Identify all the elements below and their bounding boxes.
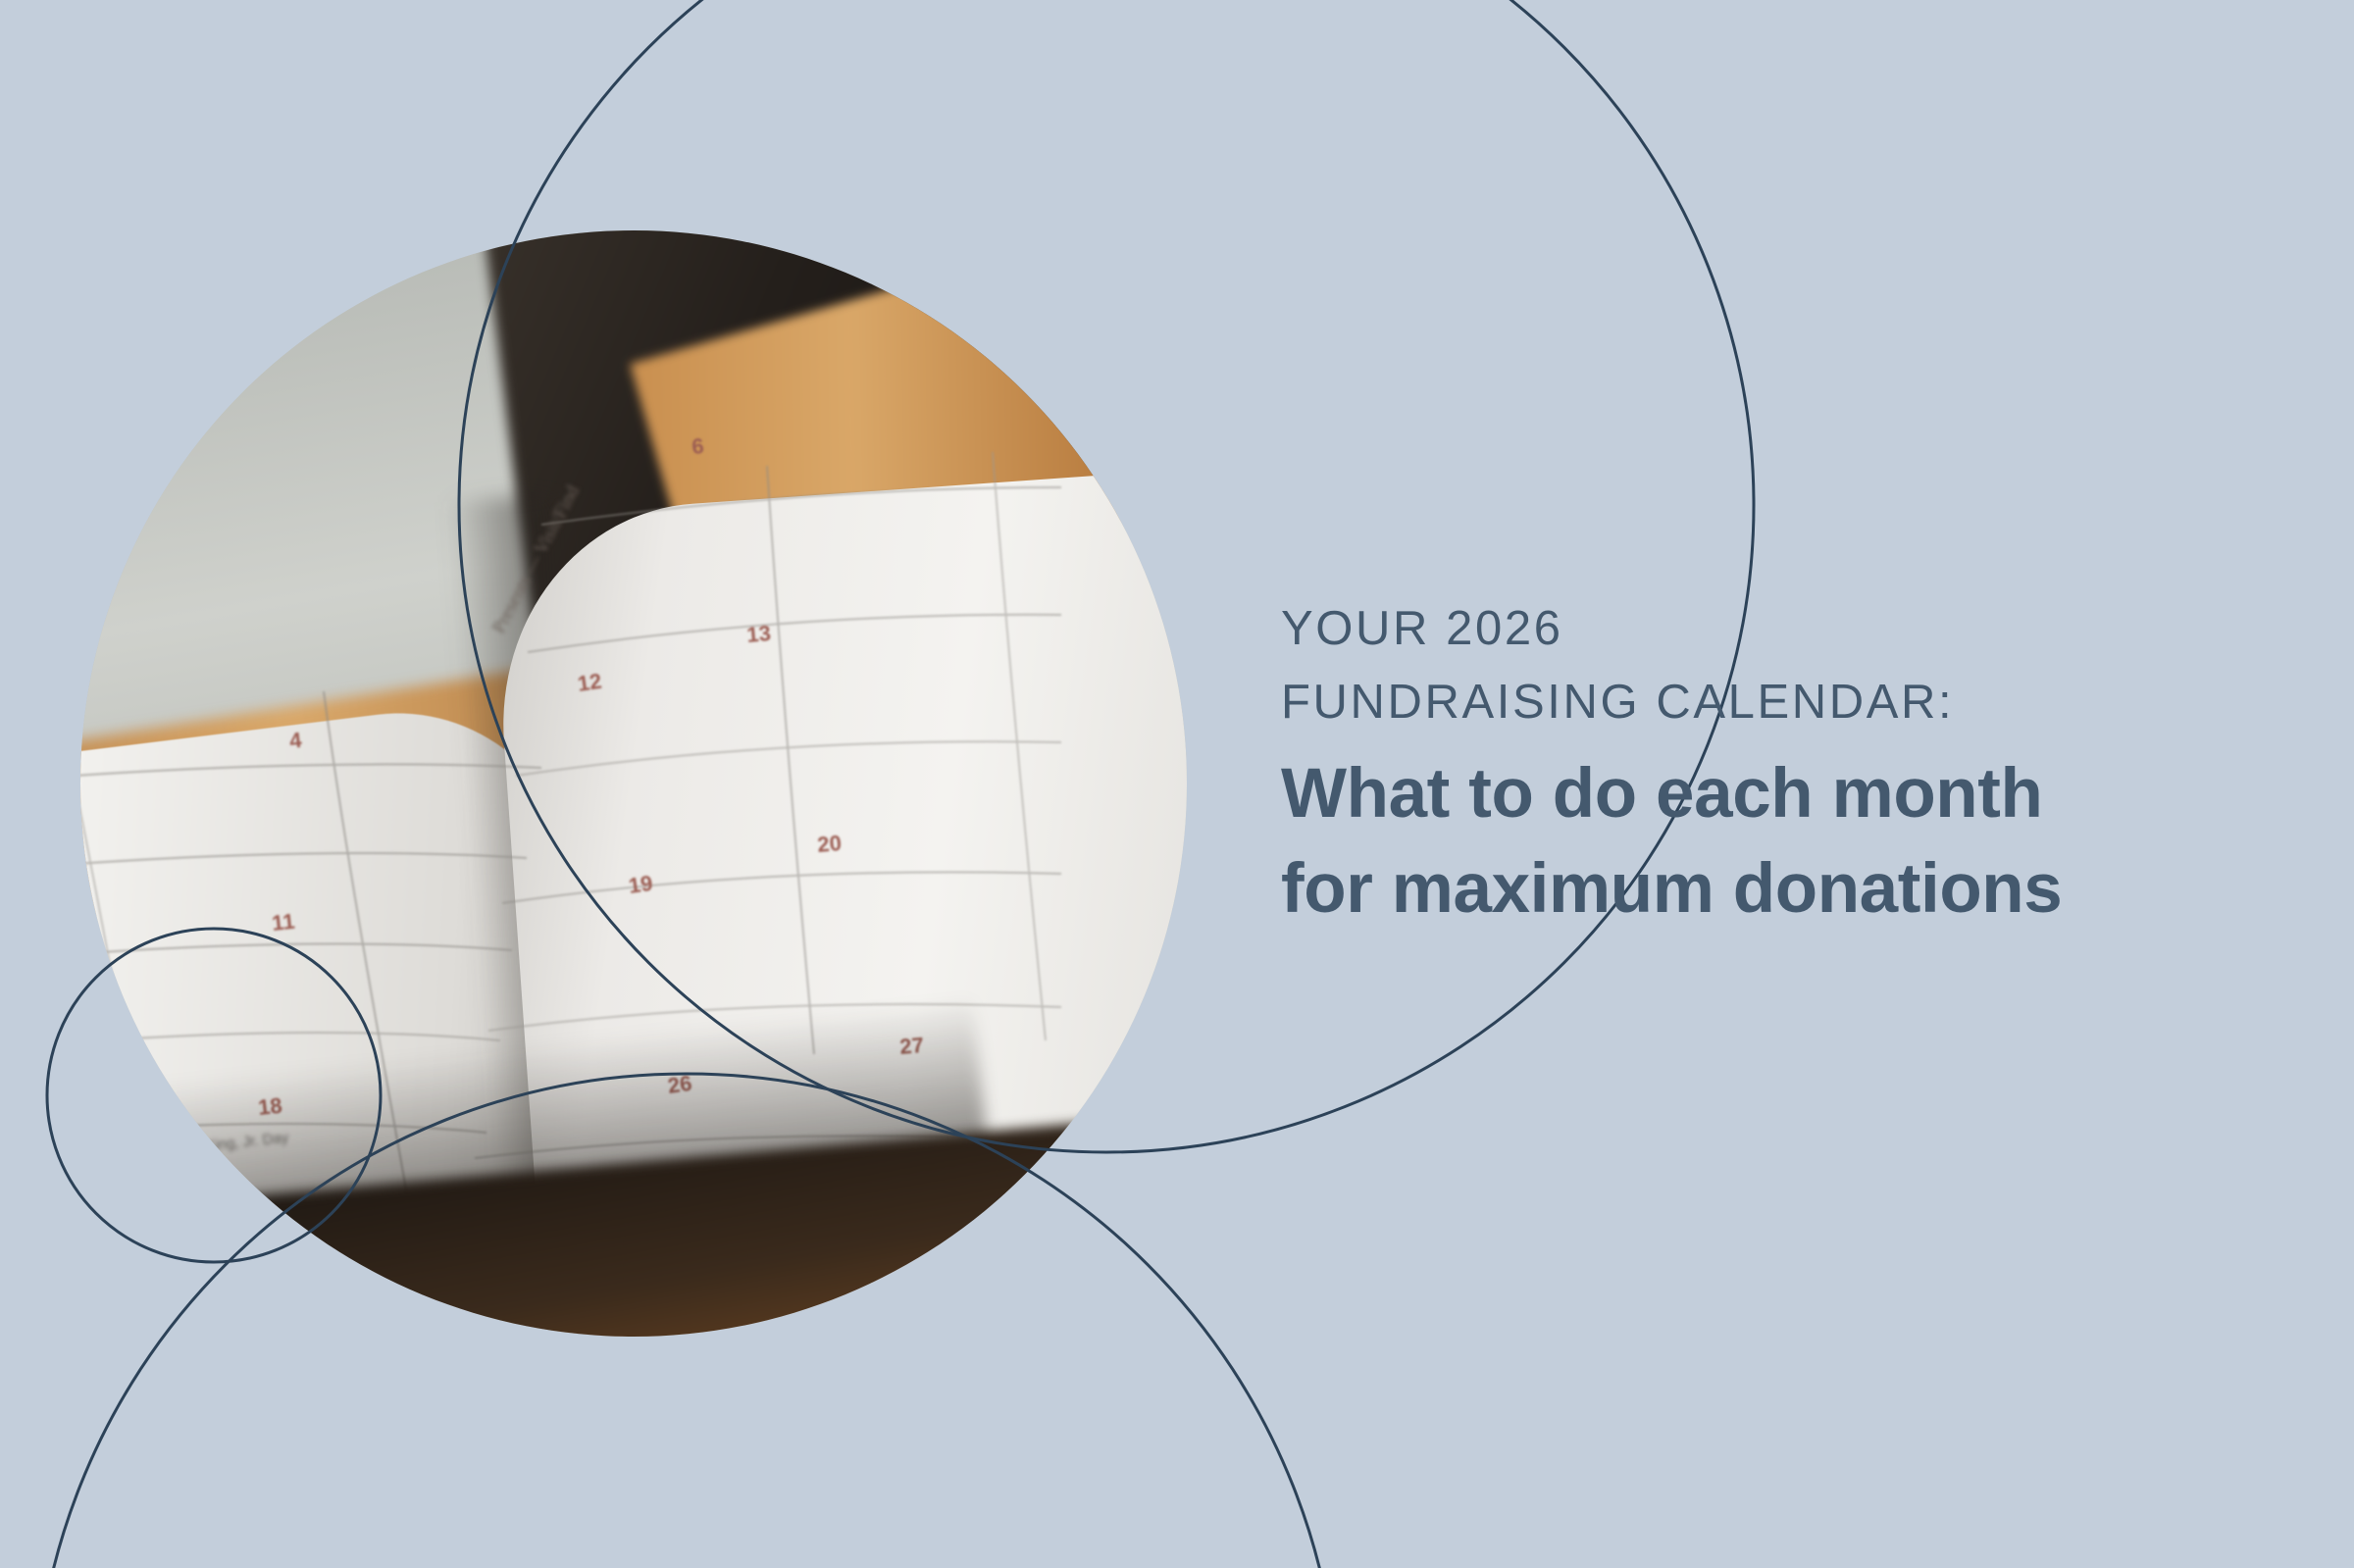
title-text-block: YOUR 2026 FUNDRAISING CALENDAR: What to … [1281, 592, 2321, 930]
headline-line-1: What to do each month [1281, 753, 2321, 835]
calendar-day-number: 13 [745, 621, 772, 647]
eyebrow-line-2: FUNDRAISING CALENDAR: [1281, 666, 2321, 739]
eyebrow-line-1: YOUR 2026 [1281, 592, 2321, 666]
calendar-day-number: 19 [627, 871, 654, 898]
poster-canvas: 4 11 18 25 Martin Luther King, Jr. Day 6… [0, 0, 2354, 1568]
photo-scene: 4 11 18 25 Martin Luther King, Jr. Day 6… [80, 230, 1187, 1337]
calendar-day-number: 6 [691, 433, 704, 459]
calendar-day-number: 12 [576, 669, 603, 696]
calendar-day-number: 20 [816, 831, 843, 857]
calendar-day-number: 11 [271, 909, 296, 936]
headline-line-2: for maximum donations [1281, 848, 2321, 930]
calendar-photo-circle: 4 11 18 25 Martin Luther King, Jr. Day 6… [80, 230, 1187, 1337]
calendar-day-number: 4 [288, 728, 304, 753]
calendar-handwritten-note: Presents — Visit/Find [488, 481, 584, 636]
